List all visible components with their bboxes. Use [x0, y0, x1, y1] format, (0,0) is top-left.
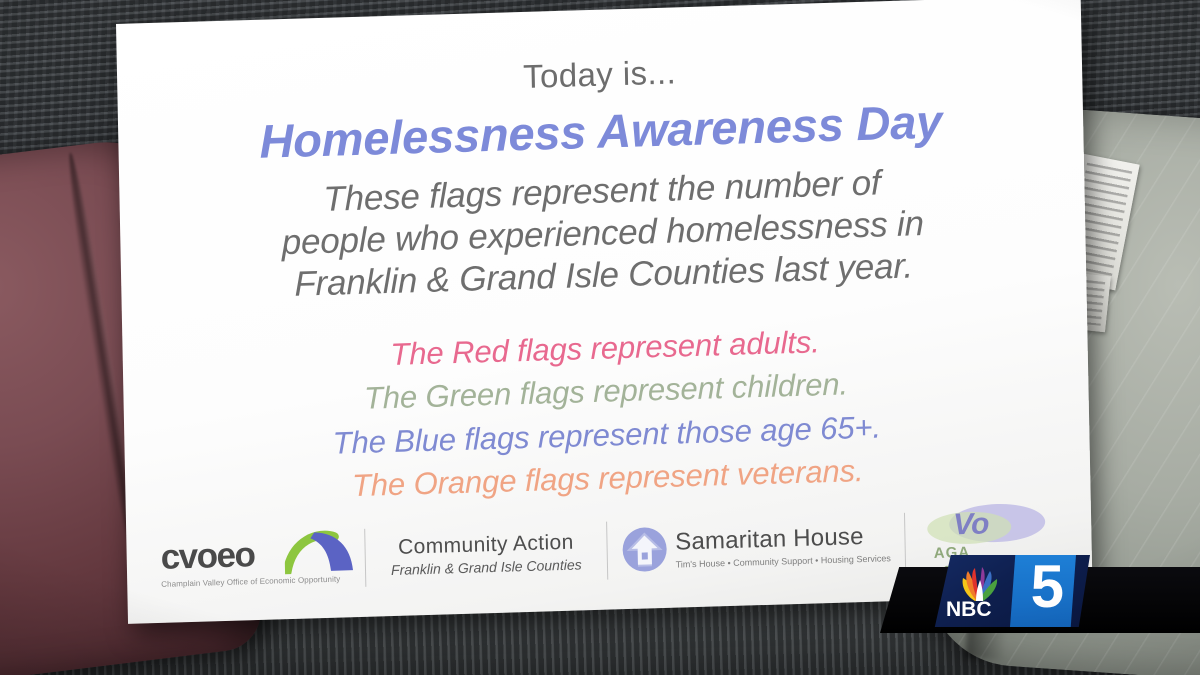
logo-divider-1 — [364, 529, 366, 587]
flag-color-legend: The Red flags represent adults. The Gree… — [158, 313, 1054, 513]
sign-paper: Today is... Homelessness Awareness Day T… — [116, 0, 1093, 624]
samaritan-house-icon — [621, 526, 668, 573]
samaritan-house-subtitle: Tim's House • Community Support • Housin… — [676, 553, 891, 569]
community-action-logo: Community Action Franklin & Grand Isle C… — [379, 508, 593, 600]
sponsor-logo-strip: cvoeo Champlain Valley Office of Economi… — [160, 494, 1070, 607]
samaritan-house-logo: Samaritan House Tim's House • Community … — [621, 499, 892, 593]
cvoeo-tagline: Champlain Valley Office of Economic Oppo… — [161, 574, 351, 589]
fourth-logo-script: Vo — [953, 507, 989, 542]
fourth-logo-sub-2: 1 — [942, 562, 952, 582]
logo-divider-3 — [904, 513, 906, 571]
fourth-partner-logo: Vo AGA 1 — [919, 494, 1071, 584]
community-action-title: Community Action — [390, 530, 581, 560]
logo-divider-2 — [606, 522, 608, 580]
sign-body: These flags represent the number of peop… — [155, 157, 1050, 309]
awareness-day-sign: Today is... Homelessness Awareness Day T… — [116, 0, 1093, 624]
community-action-subtitle: Franklin & Grand Isle Counties — [391, 556, 582, 578]
cvoeo-logo: cvoeo Champlain Valley Office of Economi… — [160, 515, 352, 607]
cvoeo-arc-icon — [284, 528, 357, 574]
samaritan-house-title: Samaritan House — [675, 522, 891, 556]
fourth-logo-sub-1: AGA — [934, 544, 971, 562]
video-frame: Today is... Homelessness Awareness Day T… — [0, 0, 1200, 675]
